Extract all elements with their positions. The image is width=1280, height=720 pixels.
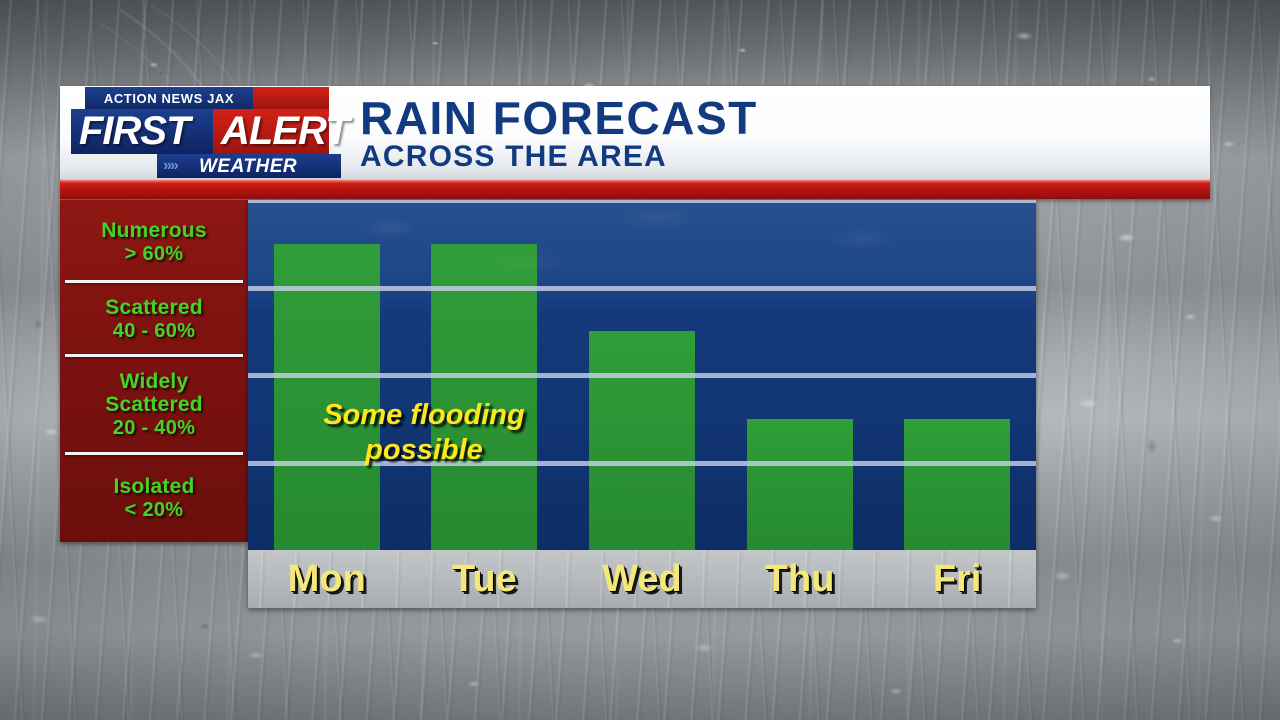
legend-range: > 60% [125,242,184,266]
legend-divider [65,280,243,283]
logo-word-first: FIRST [79,110,190,153]
legend-item-scattered: Scattered 40 - 60% [60,285,248,353]
legend-divider [65,452,243,455]
page-title: RAIN FORECAST [360,92,758,144]
legend-item-numerous: Numerous > 60% [60,204,248,281]
network-name: ACTION NEWS JAX [85,87,253,109]
day-label-fri: Fri [878,556,1036,602]
logo-word-alert: ALERT [221,110,349,153]
day-label-tue: Tue [406,556,564,602]
legend-label: Isolated [114,475,195,498]
gridline [248,200,1036,203]
day-label-thu: Thu [721,556,879,602]
annotation-line-2: possible [284,433,564,468]
bar-fri [904,419,1010,550]
legend-range: 40 - 60% [113,319,195,343]
legend-label-line1: Widely [120,370,189,393]
double-chevron-icon: »» [163,157,177,175]
bar-wed [589,331,695,550]
rain-forecast-chart: Some flooding possible MonTueWedThuFri [248,200,1036,608]
flooding-annotation: Some flooding possible [284,398,564,468]
legend-item-isolated: Isolated < 20% [60,458,248,538]
legend-label: Numerous [101,219,206,242]
day-label-mon: Mon [248,556,406,602]
chart-x-axis: MonTueWedThuFri [248,550,1036,608]
legend-label-line2: Scattered [105,393,203,416]
page-subtitle: ACROSS THE AREA [360,141,758,173]
annotation-line-1: Some flooding [284,398,564,433]
legend-item-widely-scattered: Widely Scattered 20 - 40% [60,357,248,452]
gridline [248,373,1036,378]
title-block: RAIN FORECAST ACROSS THE AREA [360,92,758,173]
day-label-wed: Wed [563,556,721,602]
first-alert-weather-logo: ACTION NEWS JAX FIRST ALERT »» WEATHER [71,87,341,180]
legend-range: < 20% [125,498,184,522]
coverage-legend: Numerous > 60% Scattered 40 - 60% Widely… [60,200,248,542]
header-banner: ACTION NEWS JAX FIRST ALERT »» WEATHER R… [60,86,1210,181]
logo-red-accent [253,87,329,109]
legend-label: Scattered [105,296,203,319]
bar-thu [747,419,853,550]
chart-plot-area: Some flooding possible [248,200,1036,550]
logo-word-weather: WEATHER [199,156,297,178]
header-red-stripe [60,180,1210,199]
gridline [248,286,1036,291]
legend-range: 20 - 40% [113,416,195,440]
